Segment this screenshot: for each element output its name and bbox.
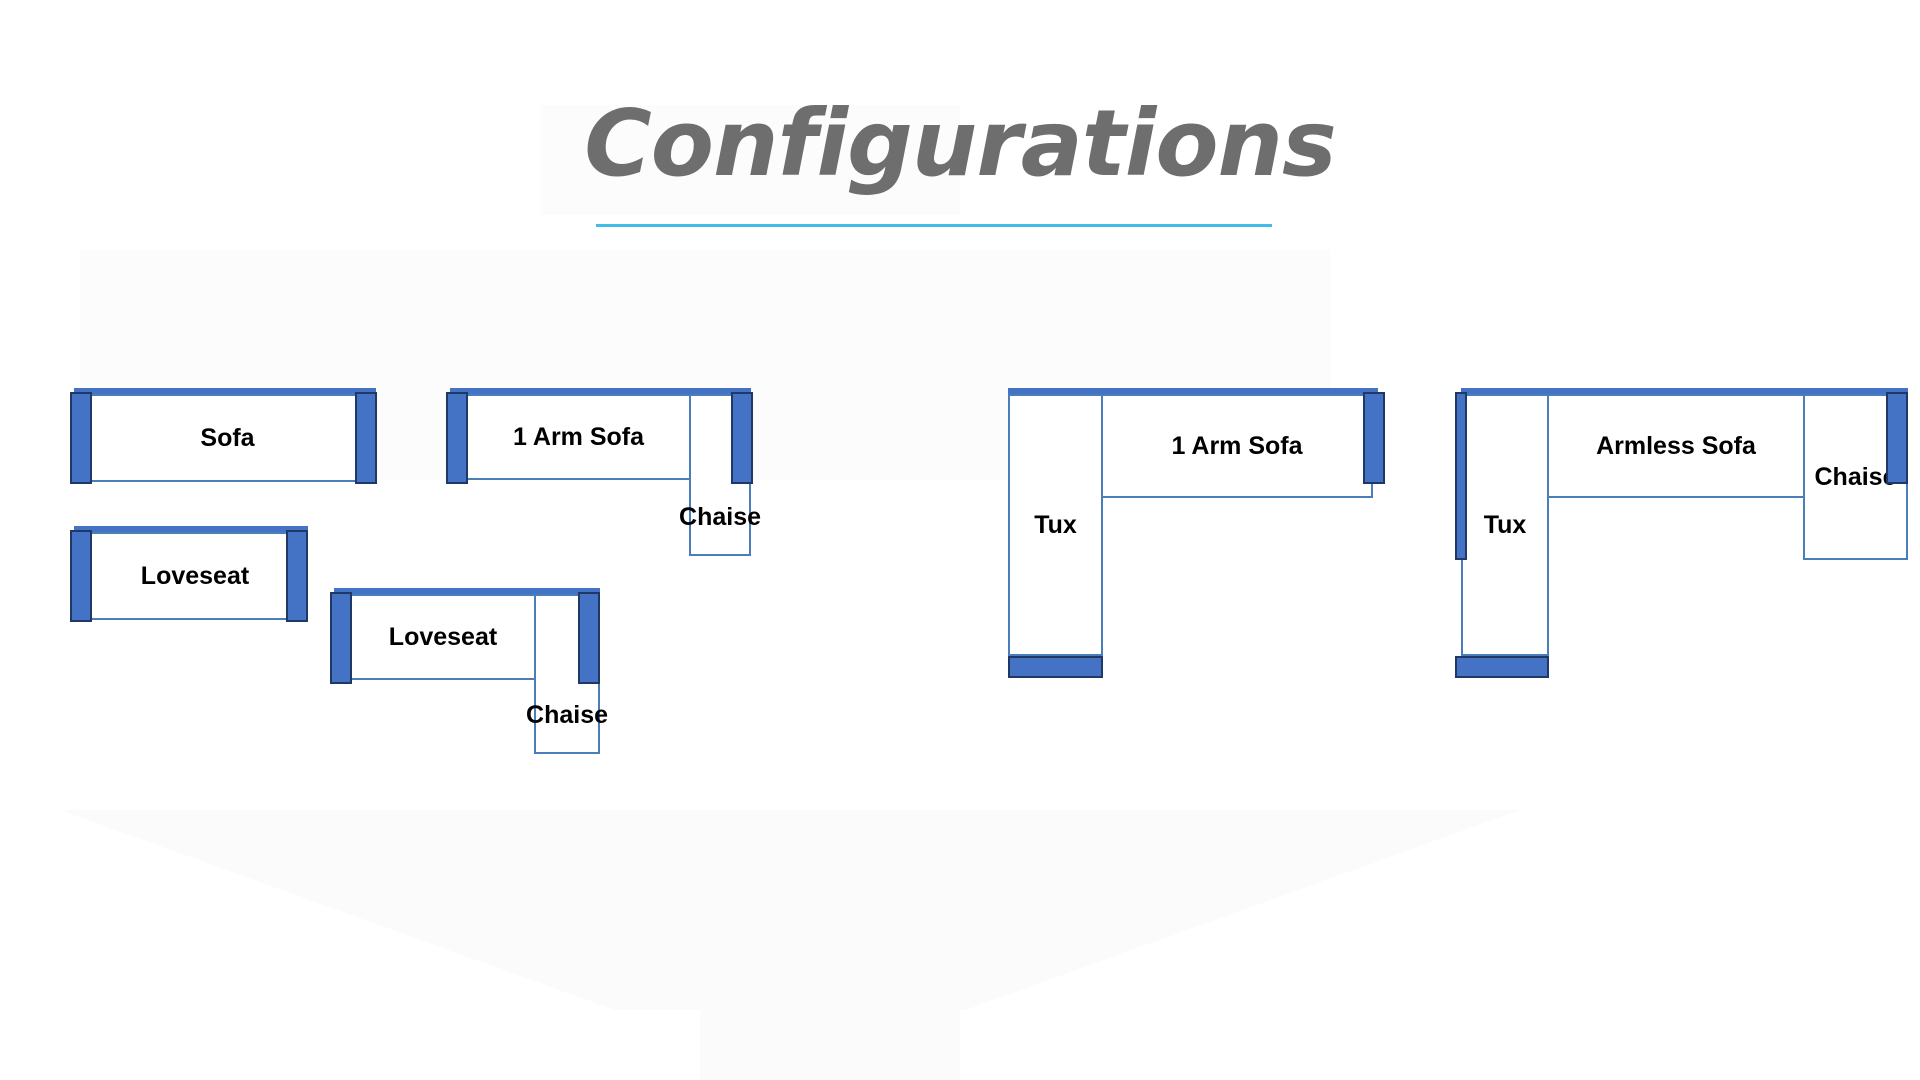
loveseat-arm-left (70, 530, 92, 622)
piece-tux[interactable]: Tux (1008, 394, 1103, 656)
page-title: Configurations (0, 96, 1920, 193)
piece-one-arm-sofa-2[interactable]: 1 Arm Sofa (1101, 394, 1373, 498)
loveseat-arm-right (286, 530, 308, 622)
piece-label-one-arm-sofa: 1 Arm Sofa (513, 423, 644, 452)
piece-label-loveseat-2: Loveseat (389, 623, 497, 652)
sofa-arm-right (355, 392, 377, 484)
piece-label-tux: Tux (1034, 511, 1077, 540)
piece-label-sofa: Sofa (200, 424, 254, 453)
piece-label-armless-sofa: Armless Sofa (1596, 432, 1756, 461)
one-arm-sofa-2-arm-right (1363, 392, 1385, 484)
tux-2-arm-bottom (1455, 656, 1549, 678)
watermark-shape-sofa-seat (700, 990, 960, 1080)
title-underline (596, 224, 1272, 227)
piece-sofa[interactable]: Sofa (90, 394, 365, 482)
watermark-shape-sofa-base (60, 810, 1520, 1010)
piece-label-chaise: Chaise (679, 503, 761, 532)
chaise-arm-right (731, 392, 753, 484)
chaise-2-arm-right (578, 592, 600, 684)
tux-2-arm-left (1455, 392, 1467, 560)
piece-label-chaise-2: Chaise (526, 701, 608, 730)
slide-canvas: Configurations Sofa Loveseat 1 Arm Sofa … (0, 0, 1920, 1080)
tux-arm-bottom (1008, 656, 1103, 678)
piece-loveseat[interactable]: Loveseat (90, 532, 300, 620)
piece-label-one-arm-sofa-2: 1 Arm Sofa (1171, 432, 1302, 461)
one-arm-sofa-arm-left (446, 392, 468, 484)
piece-label-loveseat: Loveseat (141, 562, 249, 591)
piece-loveseat-2[interactable]: Loveseat (350, 594, 536, 680)
piece-label-tux-2: Tux (1484, 511, 1527, 540)
title-block: Configurations (0, 96, 1920, 193)
chaise-3-arm-right (1886, 392, 1908, 484)
piece-armless-sofa[interactable]: Armless Sofa (1547, 394, 1805, 498)
loveseat-2-arm-left (330, 592, 352, 684)
piece-label-chaise-3: Chaise (1815, 463, 1897, 492)
piece-tux-2[interactable]: Tux (1461, 394, 1549, 656)
piece-one-arm-sofa[interactable]: 1 Arm Sofa (466, 394, 691, 480)
sofa-arm-left (70, 392, 92, 484)
